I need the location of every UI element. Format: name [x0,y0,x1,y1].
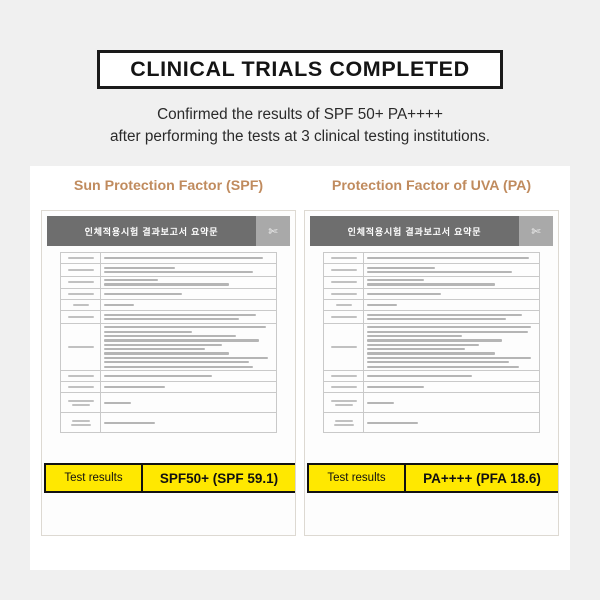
table-row [324,324,540,372]
table-row [61,311,277,324]
row-label [61,264,101,276]
table-row [324,382,540,393]
table-row [324,311,540,324]
panel-pa: Protection Factor of UVA (PA) 인체적용시험 결과보… [304,166,559,570]
row-label [61,253,101,263]
row-label [61,371,101,381]
row-label [324,264,364,276]
row-label [61,413,101,432]
table-row [61,277,277,290]
row-content [364,264,539,276]
table-row [324,289,540,300]
row-label [324,277,364,289]
row-content [364,277,539,289]
row-label [324,289,364,299]
row-content [364,371,539,381]
row-label [61,277,101,289]
document-stamp-icon: ✄ [519,216,553,246]
document-header-pa: 인체적용시험 결과보고서 요약문 ✄ [310,216,553,246]
row-label [324,253,364,263]
table-row [61,371,277,382]
test-result-bar-pa: Test results PA++++ (PFA 18.6) [307,463,559,493]
row-content [364,413,539,432]
results-card: Sun Protection Factor (SPF) 인체적용시험 결과보고서… [30,166,570,570]
row-content [101,289,276,299]
table-row [61,300,277,311]
table-row [324,277,540,290]
table-row [324,253,540,264]
document-header-title: 인체적용시험 결과보고서 요약문 [348,225,482,238]
subtitle-line-1: Confirmed the results of SPF 50+ PA++++ [0,104,600,126]
row-content [364,311,539,323]
document-table-spf [60,252,277,433]
document-table-pa [323,252,540,433]
row-label [61,289,101,299]
row-content [101,382,276,392]
row-content [364,300,539,310]
row-label [324,311,364,323]
row-label [61,300,101,310]
page-subtitle: Confirmed the results of SPF 50+ PA++++ … [0,104,600,148]
test-result-value: SPF50+ (SPF 59.1) [143,465,295,491]
row-label [324,324,364,371]
page-title: CLINICAL TRIALS COMPLETED [130,57,469,82]
row-label [61,393,101,412]
document-header-title: 인체적용시험 결과보고서 요약문 [85,225,219,238]
table-row [61,264,277,277]
subtitle-line-2: after performing the tests at 3 clinical… [0,126,600,148]
row-content [101,324,276,371]
table-row [61,253,277,264]
test-result-label: Test results [309,465,406,491]
panels-container: Sun Protection Factor (SPF) 인체적용시험 결과보고서… [30,166,570,570]
panel-heading-spf: Sun Protection Factor (SPF) [41,178,296,194]
page-title-box: CLINICAL TRIALS COMPLETED [97,50,503,89]
row-content [101,393,276,412]
document-preview-spf: 인체적용시험 결과보고서 요약문 ✄ [41,210,296,536]
row-label [324,413,364,432]
panel-heading-pa: Protection Factor of UVA (PA) [304,178,559,194]
row-label [324,382,364,392]
document-header-spf: 인체적용시험 결과보고서 요약문 ✄ [47,216,290,246]
table-row [61,413,277,433]
test-result-bar-spf: Test results SPF50+ (SPF 59.1) [44,463,296,493]
row-content [101,253,276,263]
row-content [101,371,276,381]
table-row [61,393,277,413]
row-content [364,289,539,299]
row-content [101,277,276,289]
row-label [61,324,101,371]
table-row [61,324,277,372]
row-content [364,393,539,412]
document-header-main: 인체적용시험 결과보고서 요약문 [310,216,519,246]
table-row [324,413,540,433]
table-row [324,300,540,311]
table-row [324,264,540,277]
row-content [101,311,276,323]
panel-spf: Sun Protection Factor (SPF) 인체적용시험 결과보고서… [41,166,296,570]
row-content [364,324,539,371]
row-label [324,393,364,412]
row-content [101,264,276,276]
table-row [61,289,277,300]
table-row [61,382,277,393]
table-row [324,393,540,413]
row-content [364,382,539,392]
document-preview-pa: 인체적용시험 결과보고서 요약문 ✄ [304,210,559,536]
test-result-label: Test results [46,465,143,491]
document-header-main: 인체적용시험 결과보고서 요약문 [47,216,256,246]
document-stamp-icon: ✄ [256,216,290,246]
row-label [61,311,101,323]
row-label [61,382,101,392]
row-label [324,300,364,310]
row-content [101,413,276,432]
row-content [364,253,539,263]
table-row [324,371,540,382]
test-result-value: PA++++ (PFA 18.6) [406,465,558,491]
row-content [101,300,276,310]
row-label [324,371,364,381]
